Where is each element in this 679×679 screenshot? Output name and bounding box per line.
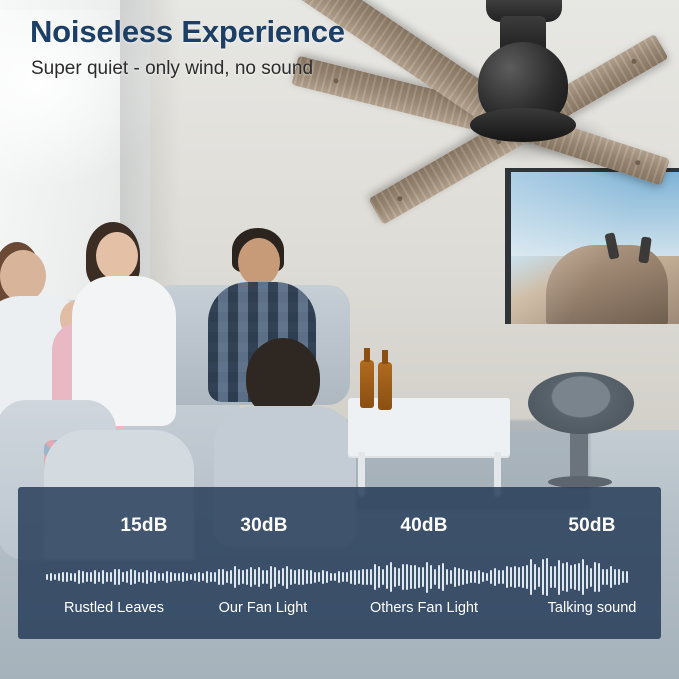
waveform-bar <box>538 567 540 588</box>
waveform-bar <box>102 570 104 584</box>
waveform-bar <box>558 560 560 595</box>
waveform-bar <box>578 563 580 590</box>
waveform-bar <box>486 573 488 582</box>
waveform-bar <box>502 570 504 583</box>
waveform-bar <box>278 570 280 583</box>
waveform-bar <box>414 565 416 588</box>
waveform-bar <box>374 564 376 590</box>
waveform-bar <box>326 571 328 582</box>
waveform-bar <box>422 567 424 587</box>
page-subtitle: Super quiet - only wind, no sound <box>31 58 313 80</box>
waveform-bar <box>182 572 184 581</box>
waveform-bar <box>482 572 484 582</box>
waveform-bar <box>142 572 144 583</box>
waveform-bar <box>314 572 316 583</box>
waveform-bar <box>266 570 268 584</box>
waveform-bar <box>522 566 524 588</box>
noise-value: 40dB <box>348 515 500 537</box>
waveform-bar <box>450 570 452 585</box>
waveform-bar <box>230 570 232 585</box>
beer-bottle <box>378 362 392 410</box>
waveform-bar <box>362 569 364 586</box>
waveform-bar <box>406 564 408 589</box>
waveform-bar <box>474 571 476 582</box>
waveform-bar <box>186 573 188 580</box>
waveform-bar <box>534 564 536 590</box>
waveform-bar <box>254 569 256 585</box>
waveform-bar <box>138 572 140 583</box>
noise-label: Our Fan Light <box>173 600 353 616</box>
waveform-bar <box>510 567 512 587</box>
waveform-bar <box>118 569 120 585</box>
noise-label-3: Talking sound <box>502 600 679 616</box>
waveform-bar <box>122 572 124 583</box>
waveform-bar <box>446 569 448 586</box>
waveform-bar <box>458 568 460 585</box>
waveform-bar <box>542 559 544 594</box>
waveform-bar <box>146 570 148 583</box>
waveform-bar <box>606 569 608 585</box>
speaker <box>528 372 634 434</box>
waveform-bar <box>618 569 620 585</box>
waveform-bar <box>154 571 156 583</box>
waveform-bar <box>462 569 464 585</box>
waveform-bar <box>622 571 624 582</box>
waveform-bar <box>342 572 344 582</box>
waveform-bar <box>478 570 480 584</box>
waveform-bar <box>114 569 116 584</box>
waveform-bar <box>506 566 508 588</box>
waveform-bar <box>334 573 336 582</box>
waveform-bar <box>386 565 388 589</box>
page-title: Noiseless Experience <box>30 14 345 50</box>
waveform-bar <box>494 568 496 587</box>
waveform-bar <box>394 567 396 587</box>
waveform-bar <box>338 571 340 582</box>
waveform-bar <box>554 566 556 588</box>
waveform-bar <box>378 566 380 588</box>
waveform-bar <box>430 565 432 589</box>
product-infographic: Noiseless Experience Super quiet - only … <box>0 0 679 679</box>
waveform-bar <box>158 573 160 582</box>
waveform-bar <box>126 571 128 583</box>
waveform-bar <box>614 569 616 584</box>
waveform-bar <box>610 566 612 588</box>
waveform-bar <box>214 572 216 582</box>
waveform-bar <box>354 570 356 585</box>
waveform-bar <box>198 572 200 582</box>
waveform-bar <box>130 569 132 586</box>
waveform-bar <box>302 569 304 585</box>
waveform-bar <box>570 565 572 589</box>
waveform-bar <box>546 558 548 597</box>
beer-bottle <box>360 360 374 408</box>
waveform-bar <box>498 570 500 583</box>
waveform-bar <box>550 566 552 588</box>
waveform-bar <box>190 574 192 580</box>
waveform-bar <box>258 567 260 586</box>
waveform-bar <box>298 569 300 585</box>
noise-label: Talking sound <box>502 600 679 616</box>
waveform-bar <box>418 567 420 588</box>
waveform-bar <box>150 572 152 582</box>
waveform-bar <box>250 567 252 587</box>
waveform-bar <box>330 573 332 581</box>
waveform-bar <box>438 565 440 590</box>
waveform-bar <box>270 566 272 589</box>
waveform-bar <box>166 571 168 583</box>
waveform-bar <box>514 566 516 589</box>
waveform-bar <box>358 570 360 585</box>
waveform-bar <box>162 573 164 582</box>
waveform-bar <box>366 569 368 584</box>
noise-label-1: Our Fan Light <box>173 600 353 616</box>
waveform-bar <box>402 564 404 590</box>
noise-label-2: Others Fan Light <box>328 600 520 616</box>
waveform-bar <box>74 573 76 582</box>
waveform-bar <box>598 563 600 592</box>
waveform-bar <box>194 573 196 581</box>
waveform-bar <box>286 566 288 589</box>
noise-item-1: 30dB <box>188 515 340 537</box>
waveform-bar <box>582 559 584 595</box>
waveform-bar <box>310 570 312 584</box>
waveform-bar <box>170 572 172 583</box>
waveform-bar <box>62 572 64 581</box>
waveform-bar <box>322 570 324 584</box>
waveform-bar <box>110 572 112 583</box>
waveform-bar <box>178 573 180 581</box>
waveform-bar <box>66 572 68 583</box>
waveform-bar <box>370 569 372 584</box>
waveform-bar <box>398 568 400 587</box>
waveform-bar <box>470 571 472 583</box>
waveform-bar <box>134 570 136 584</box>
waveform-bar <box>58 573 60 580</box>
waveform-bar <box>586 565 588 589</box>
waveform-bar <box>282 568 284 586</box>
waveform-bar <box>466 570 468 584</box>
waveform-bar <box>50 573 52 580</box>
waveform-bar <box>242 570 244 584</box>
waveform-bar <box>490 570 492 585</box>
waveform-bar <box>318 572 320 582</box>
waveform-graphic <box>46 556 634 598</box>
waveform-bar <box>226 571 228 582</box>
waveform-bar <box>350 570 352 583</box>
noise-item-2: 40dB <box>348 515 500 537</box>
waveform-bar <box>262 570 264 585</box>
waveform-bar <box>590 568 592 587</box>
waveform-bar <box>210 572 212 582</box>
waveform-bar <box>290 569 292 585</box>
waveform-bar <box>390 562 392 593</box>
waveform-bar <box>202 573 204 582</box>
waveform-bar <box>566 562 568 593</box>
waveform-bar <box>98 572 100 582</box>
waveform-bar <box>70 573 72 581</box>
waveform-bar <box>78 570 80 583</box>
waveform-bar <box>442 563 444 591</box>
waveform-bar <box>106 572 108 582</box>
noise-label: Others Fan Light <box>328 600 520 616</box>
waveform-bar <box>274 567 276 588</box>
waveform-bar <box>234 566 236 587</box>
waveform-bar <box>454 567 456 587</box>
waveform-bar <box>518 567 520 588</box>
waveform-bar <box>434 569 436 585</box>
waveform-bar <box>574 564 576 590</box>
waveform-bar <box>174 573 176 580</box>
waveform-bar <box>82 571 84 583</box>
waveform-bar <box>346 572 348 582</box>
waveform-bar <box>54 574 56 581</box>
waveform-bar <box>562 563 564 591</box>
waveform-bar <box>218 569 220 585</box>
waveform-bar <box>426 562 428 593</box>
waveform-bar <box>602 569 604 585</box>
fan-mounting-ring <box>470 108 576 142</box>
waveform-bar <box>626 571 628 582</box>
waveform-bar <box>526 565 528 589</box>
waveform-bar <box>294 570 296 584</box>
waveform-bar <box>410 565 412 589</box>
waveform-bar <box>594 562 596 592</box>
waveform-bar <box>206 571 208 582</box>
waveform-bar <box>222 569 224 585</box>
speaker-stand <box>570 428 588 480</box>
waveform-bar <box>530 559 532 595</box>
waveform-bar <box>94 570 96 583</box>
noise-value: 30dB <box>188 515 340 537</box>
waveform-bar <box>246 569 248 586</box>
waveform-bar <box>306 570 308 583</box>
noise-value: 50dB <box>516 515 668 537</box>
waveform-bar <box>46 574 48 580</box>
noise-item-3: 50dB <box>516 515 668 537</box>
waveform-bar <box>238 569 240 585</box>
waveform-bar <box>90 572 92 582</box>
waveform-bar <box>382 569 384 585</box>
waveform-bar <box>86 572 88 582</box>
